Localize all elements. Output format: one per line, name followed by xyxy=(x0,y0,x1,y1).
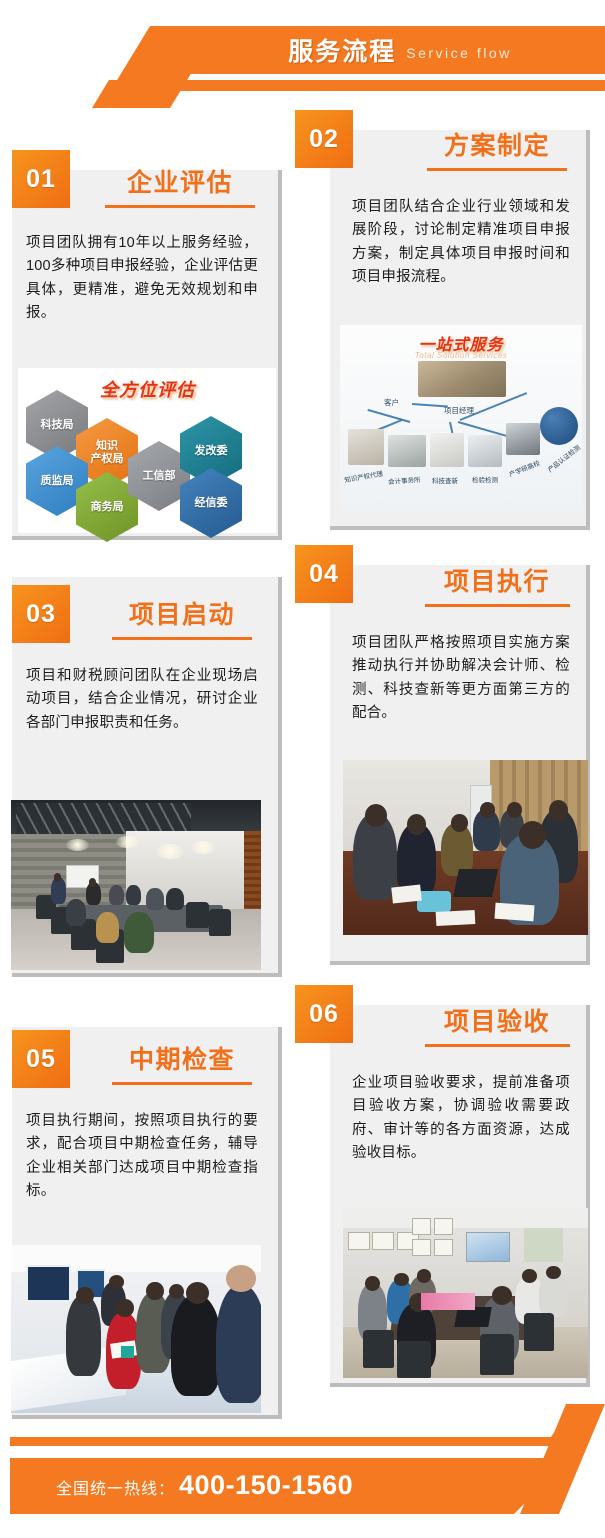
card-05-number: 05 xyxy=(26,1045,56,1074)
card-03-title: 项目启动 xyxy=(92,595,272,631)
hex-node-keji-label: 科技局 xyxy=(41,419,74,432)
hex-node-gongxinbu-label: 工信部 xyxy=(143,470,176,483)
one-stop-label-accounting: 会计事务所 xyxy=(388,474,421,486)
hexagon-diagram-title: 全方位评估 xyxy=(100,376,195,402)
boardroom-acceptance-photo xyxy=(343,1208,588,1378)
card-06-title: 项目验收 xyxy=(412,1002,582,1038)
card-02-title: 方案制定 xyxy=(412,126,582,162)
one-stop-label-certification: 产品认证检测 xyxy=(545,442,582,474)
one-stop-service-diagram: 一站式服务 Total Solution Services 客户 项目经理 知识… xyxy=(340,325,582,510)
card-01-title-underline xyxy=(105,205,255,208)
card-04-title: 项目执行 xyxy=(412,562,582,598)
card-03-number: 03 xyxy=(26,600,56,629)
footer-hotline: 全国统一热线： 400-150-1560 xyxy=(56,1470,353,1501)
card-04-body: 项目团队严格按照项目实施方案推动执行并协助解决会计师、检测、科技查新等更方面第三… xyxy=(352,632,570,726)
card-06-title-underline xyxy=(425,1044,570,1047)
conference-room-photo xyxy=(11,800,261,970)
hex-node-zhishichanquan-label: 知识 产权局 xyxy=(91,440,124,465)
card-02-number: 02 xyxy=(309,125,339,154)
page-title: 服务流程 xyxy=(288,32,396,68)
card-06-number-badge: 06 xyxy=(295,985,353,1043)
card-01-title: 企业评估 xyxy=(90,163,270,199)
header-title-group: 服务流程 Service flow xyxy=(150,26,605,74)
card-05-title-underline xyxy=(112,1082,252,1085)
one-stop-label-university: 产学研高校 xyxy=(507,457,541,478)
hex-node-shangwuju-label: 商务局 xyxy=(91,501,124,514)
one-stop-thumb-accounting xyxy=(388,435,426,467)
one-stop-thumb-search xyxy=(430,433,464,467)
footer-stripe xyxy=(10,1437,570,1446)
card-03-body: 项目和财税顾问团队在企业现场启动项目，结合企业情况，研讨企业各部门申报职责和任务… xyxy=(26,665,258,735)
meeting-laptops-photo xyxy=(343,760,588,935)
card-01-title-group: 企业评估 xyxy=(90,163,270,208)
card-04-number-badge: 04 xyxy=(295,545,353,603)
hex-node-zhijianju-label: 质监局 xyxy=(41,475,74,488)
card-03-title-underline xyxy=(112,637,252,640)
one-stop-thumb-testing xyxy=(468,435,502,467)
service-flow-poster: 服务流程 Service flow 01 企业评估 项目团队拥有10年以上服务经… xyxy=(0,0,605,1538)
footer-hotline-label: 全国统一热线： xyxy=(56,1475,175,1499)
one-stop-arrow-6 xyxy=(367,409,410,423)
card-02-number-badge: 02 xyxy=(295,110,353,168)
card-01-number-badge: 01 xyxy=(12,150,70,208)
card-06-number: 06 xyxy=(309,1000,339,1029)
one-stop-thumb-university xyxy=(506,423,540,455)
card-06-body: 企业项目验收要求，提前准备项目验收方案，协调验收需要政府、审计等的各方面资源，达… xyxy=(352,1072,570,1166)
card-05-body: 项目执行期间，按照项目执行的要求，配合项目中期检查任务，辅导企业相关部门达成项目… xyxy=(26,1110,258,1204)
card-05-title-group: 中期检查 xyxy=(92,1040,272,1085)
header-stripe xyxy=(120,80,605,91)
one-stop-node-customer: 客户 xyxy=(384,397,399,408)
card-01-number: 01 xyxy=(26,165,56,194)
card-04-number: 04 xyxy=(309,560,339,589)
card-05-title: 中期检查 xyxy=(92,1040,272,1076)
one-stop-thumb-ip xyxy=(348,429,384,465)
card-01-body: 项目团队拥有10年以上服务经验，100多种项目申报经验，企业评估更具体，更精准，… xyxy=(26,232,258,326)
card-02-title-underline xyxy=(427,168,567,171)
hex-node-fagaiwei-label: 发改委 xyxy=(195,445,228,458)
card-02-title-group: 方案制定 xyxy=(412,126,582,171)
hex-node-jingxinwei-label: 经信委 xyxy=(195,497,228,510)
one-stop-label-testing: 检验检测 xyxy=(472,474,498,484)
card-03-title-group: 项目启动 xyxy=(92,595,272,640)
card-05-number-badge: 05 xyxy=(12,1030,70,1088)
footer-hotline-number: 400-150-1560 xyxy=(179,1470,353,1501)
one-stop-subtitle: Total Solution Services xyxy=(340,351,582,360)
page-header: 服务流程 Service flow xyxy=(0,0,605,108)
one-stop-label-ip: 知识产权代理 xyxy=(343,468,383,485)
card-04-title-group: 项目执行 xyxy=(412,562,582,607)
one-stop-team-photo xyxy=(418,361,506,397)
card-06-title-group: 项目验收 xyxy=(412,1002,582,1047)
card-03-number-badge: 03 xyxy=(12,585,70,643)
card-04-title-underline xyxy=(425,604,570,607)
one-stop-certification-seal xyxy=(540,407,578,445)
one-stop-arrow-1 xyxy=(412,403,448,408)
hexagon-assessment-diagram: 全方位评估 科技局 知识 产权局 质监局 商务局 工信部 发改委 经信委 xyxy=(18,368,276,533)
showroom-visit-photo xyxy=(11,1245,261,1413)
one-stop-label-search: 科技查新 xyxy=(432,475,458,485)
card-02-body: 项目团队结合企业行业领域和发展阶段，讨论制定精准项目申报方案，制定具体项目申报时… xyxy=(352,196,570,290)
page-subtitle: Service flow xyxy=(406,40,511,61)
